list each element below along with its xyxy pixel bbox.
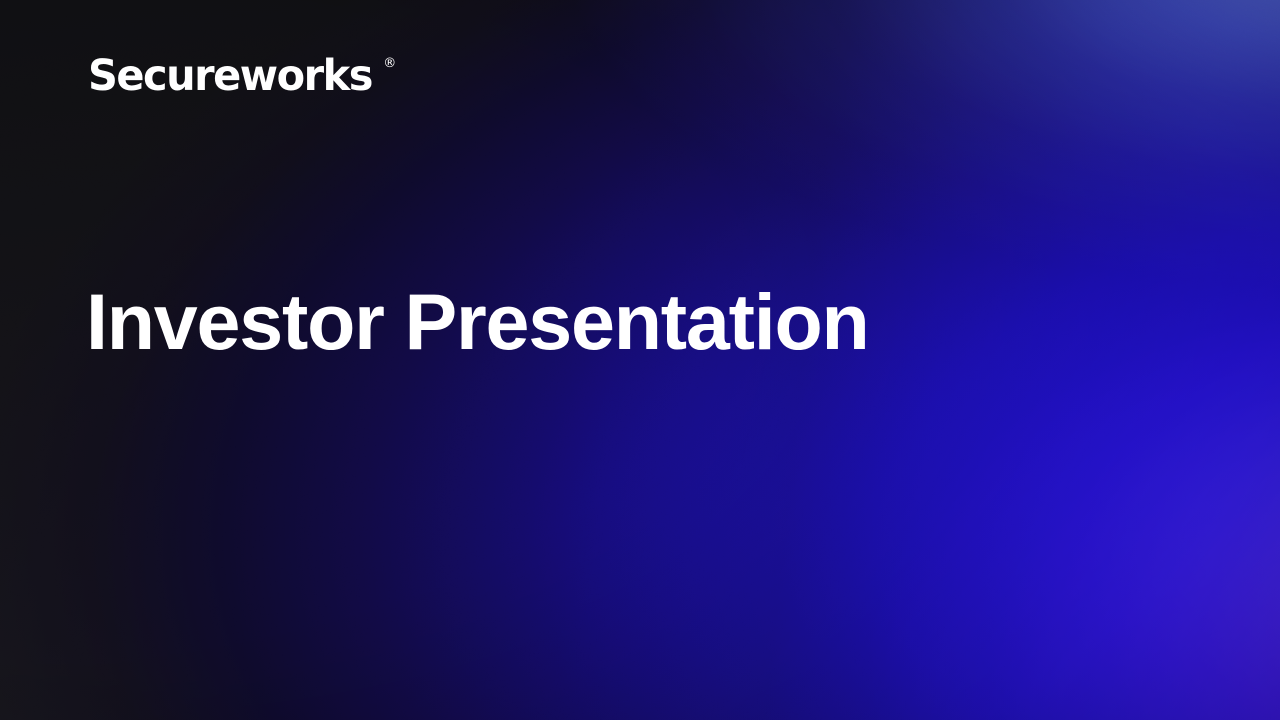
slide-content: Secureworks ® Investor Presentation <box>0 0 1280 720</box>
logo-wordmark-text: Secureworks <box>88 55 372 98</box>
registered-trademark-icon: ® <box>383 57 396 70</box>
secureworks-logo: Secureworks ® <box>88 55 396 98</box>
title-slide: Secureworks ® Investor Presentation <box>0 0 1280 720</box>
page-title: Investor Presentation <box>86 282 869 361</box>
